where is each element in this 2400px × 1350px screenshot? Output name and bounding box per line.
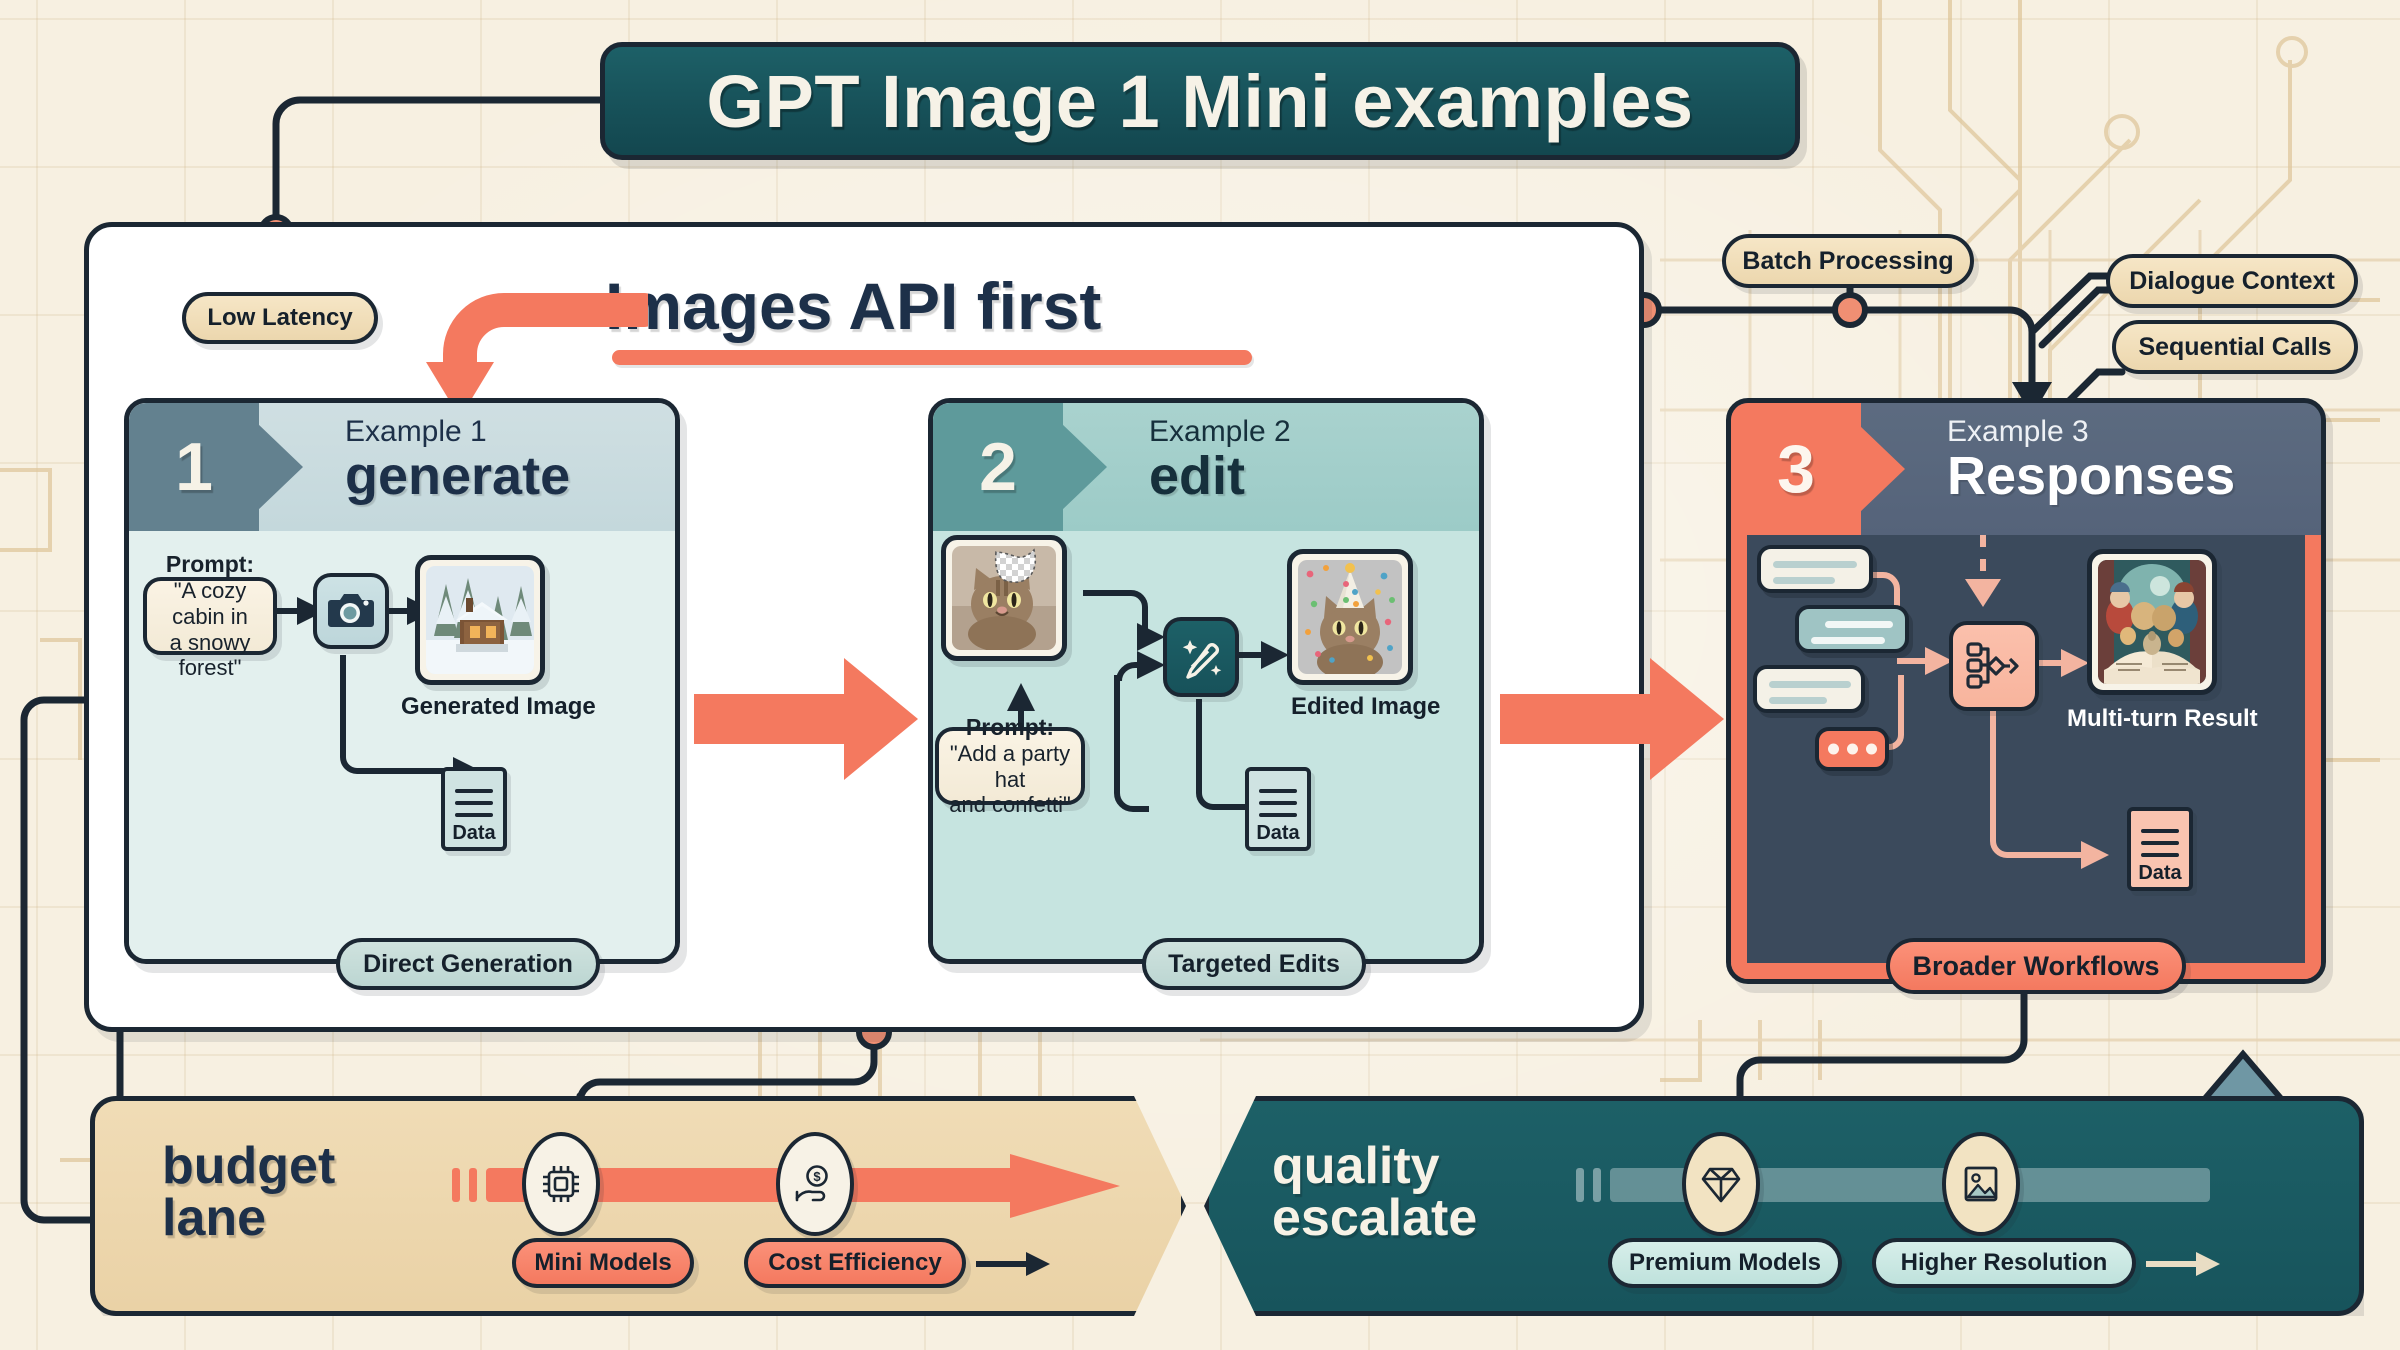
- card-2-number: 2: [933, 403, 1063, 531]
- card-2-edited-image[interactable]: [1287, 549, 1413, 685]
- badge-batch-processing[interactable]: Batch Processing: [1722, 234, 1974, 288]
- card-2-data-file[interactable]: Data: [1245, 767, 1311, 851]
- badge-low-latency[interactable]: Low Latency: [182, 292, 378, 344]
- quality-lane-pill-higher-resolution[interactable]: Higher Resolution: [1872, 1238, 2136, 1288]
- arrow-card2-to-card3: [1500, 646, 1726, 792]
- card-2-header: 2 Example 2 edit: [933, 403, 1479, 531]
- quality-lane-dashes: [1576, 1168, 1601, 1202]
- budget-lane-end-arrow: [974, 1248, 1054, 1280]
- quality-lane-title: quality escalate: [1272, 1140, 1477, 1244]
- budget-lane-pill-cost-efficiency[interactable]: Cost Efficiency: [744, 1238, 966, 1288]
- page-title-banner: GPT Image 1 Mini examples: [600, 42, 1800, 160]
- example-card-3: 3 Example 3 Responses: [1726, 398, 2326, 984]
- chat-bubble-user-2: [1753, 665, 1865, 713]
- budget-lane-dashes: [452, 1168, 477, 1202]
- card-3-footer-badge[interactable]: Broader Workflows: [1886, 938, 2186, 994]
- card-1-result-caption: Generated Image: [401, 693, 596, 721]
- card-1-body: Prompt: "A cozy cabin in a snowy forest": [129, 531, 675, 959]
- quality-lane-end-arrow: [2144, 1248, 2224, 1280]
- image-icon[interactable]: [1942, 1132, 2020, 1236]
- card-2-kicker: Example 2: [1149, 415, 1291, 449]
- card-1-generated-image[interactable]: [415, 555, 545, 685]
- card-3-title: Responses: [1947, 445, 2235, 507]
- cost-hand-icon[interactable]: $: [776, 1132, 854, 1236]
- card-3-result-caption: Multi-turn Result: [2067, 705, 2258, 733]
- panel-heading: Images API first: [605, 268, 1101, 344]
- card-2-result-caption: Edited Image: [1291, 693, 1440, 721]
- chat-bubble-assistant-1: [1795, 605, 1909, 653]
- card-1-title: generate: [345, 445, 570, 507]
- chip-icon[interactable]: [522, 1132, 600, 1236]
- badge-dialogue-context[interactable]: Dialogue Context: [2106, 254, 2358, 308]
- svg-text:$: $: [813, 1169, 821, 1184]
- card-1-header: 1 Example 1 generate: [129, 403, 675, 531]
- badge-sequential-calls[interactable]: Sequential Calls: [2112, 320, 2358, 374]
- card-1-kicker: Example 1: [345, 415, 570, 449]
- card-3-body: Multi-turn Result Data: [1731, 535, 2321, 979]
- budget-lane-title: budget lane: [162, 1140, 335, 1244]
- card-1-footer-badge[interactable]: Direct Generation: [336, 938, 600, 990]
- card-2-footer-badge[interactable]: Targeted Edits: [1142, 938, 1366, 990]
- card-2-title: edit: [1149, 445, 1291, 507]
- card-2-body: Prompt: "Add a party hat and confetti": [933, 531, 1479, 959]
- card-3-header: 3 Example 3 Responses: [1731, 403, 2321, 535]
- card-2-source-image[interactable]: [941, 535, 1067, 661]
- budget-lane-arrowhead: [1010, 1140, 1130, 1232]
- quality-lane-pill-premium-models[interactable]: Premium Models: [1608, 1238, 1842, 1288]
- example-card-1: 1 Example 1 generate: [124, 398, 680, 964]
- camera-icon[interactable]: [313, 573, 389, 649]
- card-3-result-image[interactable]: [2087, 549, 2217, 695]
- card-1-data-file[interactable]: Data: [441, 767, 507, 851]
- card-2-prompt-box[interactable]: Prompt: "Add a party hat and confetti": [935, 727, 1085, 805]
- example-card-2: 2 Example 2 edit: [928, 398, 1484, 964]
- chat-bubble-typing: [1815, 727, 1889, 771]
- panel-heading-underline: [612, 350, 1252, 365]
- workflow-icon[interactable]: [1949, 621, 2039, 711]
- card-3-kicker: Example 3: [1947, 415, 2235, 449]
- infographic-canvas: GPT Image 1 Mini examples Images API fir…: [0, 0, 2400, 1350]
- budget-lane-pill-mini-models[interactable]: Mini Models: [512, 1238, 694, 1288]
- chat-bubble-user-1: [1757, 545, 1873, 593]
- magic-pencil-icon[interactable]: [1163, 617, 1239, 697]
- card-3-number: 3: [1731, 403, 1861, 535]
- page-title: GPT Image 1 Mini examples: [706, 59, 1693, 144]
- card-1-prompt-box[interactable]: Prompt: "A cozy cabin in a snowy forest": [143, 577, 277, 655]
- card-1-number: 1: [129, 403, 259, 531]
- arrow-card1-to-card2: [694, 646, 920, 792]
- card-3-data-file[interactable]: Data: [2127, 807, 2193, 891]
- diamond-icon[interactable]: [1682, 1132, 1760, 1236]
